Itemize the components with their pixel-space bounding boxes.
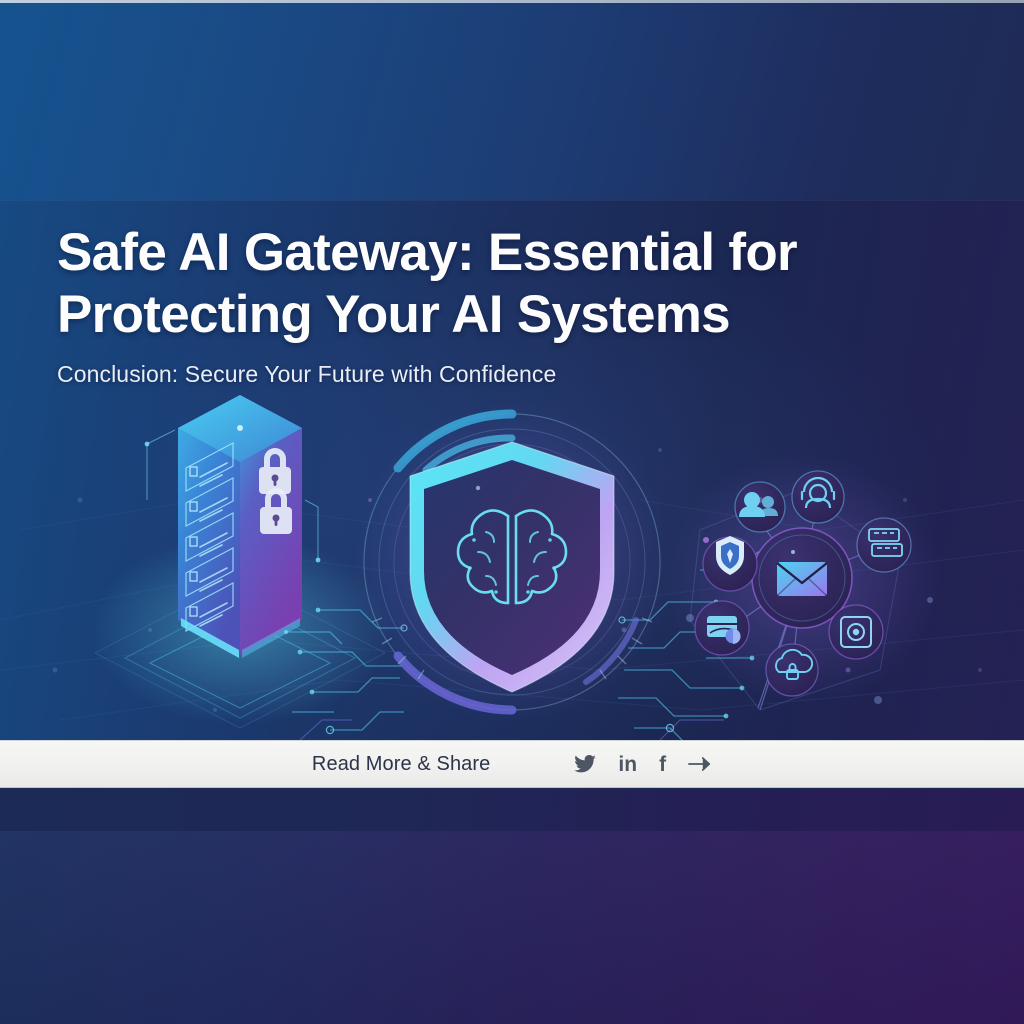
linkedin-icon[interactable]: in <box>618 754 637 775</box>
facebook-icon[interactable]: f <box>659 754 666 775</box>
bottom-strip <box>0 789 1024 831</box>
server-illustration <box>90 395 390 728</box>
read-more-share-label: Read More & Share <box>312 753 490 776</box>
top-gradient-band <box>0 0 1024 200</box>
page-subtitle: Conclusion: Secure Your Future with Conf… <box>57 361 957 388</box>
hero-banner: Safe AI Gateway: Essential for Protectin… <box>0 200 1024 740</box>
twitter-icon[interactable] <box>574 755 596 773</box>
envelope-icon <box>777 562 827 596</box>
network-illustration <box>662 453 942 710</box>
page-title: Safe AI Gateway: Essential for Protectin… <box>57 222 957 346</box>
arrow-right-icon[interactable] <box>688 755 712 773</box>
social-icon-group: in f <box>574 754 712 775</box>
share-bar: Read More & Share in f <box>0 740 1024 788</box>
bottom-gradient-area <box>0 831 1024 1024</box>
shield-illustration <box>352 402 672 722</box>
